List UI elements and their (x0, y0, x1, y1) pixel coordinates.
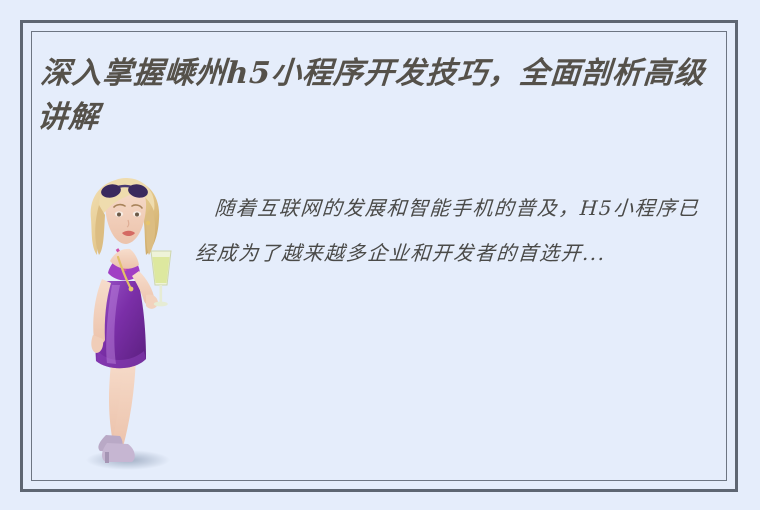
article-excerpt: 随着互联网的发展和智能手机的普及，H5小程序已经成为了越来越多企业和开发者的首选… (194, 186, 720, 276)
article-card: 深入掌握嵊州h5小程序开发技巧，全面剖析高级讲解 随着互联网的发展和智能手机的普… (0, 0, 760, 510)
pupil-left (117, 213, 121, 217)
woman-with-champagne-glass-illustration (60, 175, 185, 485)
shoe-heel (105, 452, 109, 463)
champagne-liquid (153, 257, 170, 283)
earring (146, 221, 150, 225)
glass-base (154, 302, 168, 307)
pupil-right (135, 213, 139, 217)
right-hand (146, 294, 158, 308)
glass-stem (160, 285, 163, 303)
page-title: 深入掌握嵊州h5小程序开发技巧，全面剖析高级讲解 (36, 52, 722, 140)
necklace-pendant (129, 287, 134, 292)
